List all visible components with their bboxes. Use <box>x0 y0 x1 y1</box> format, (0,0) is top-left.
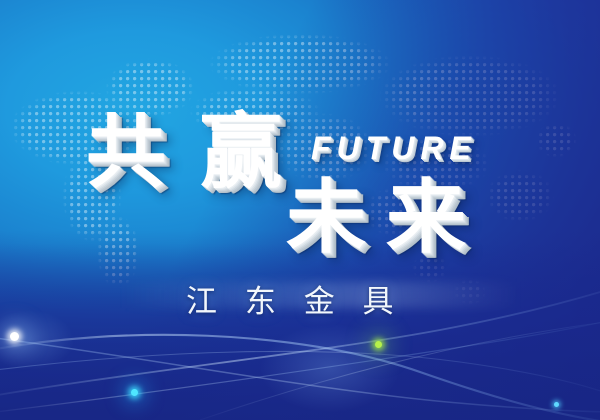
headline-char-ying: 赢 <box>200 112 282 194</box>
headline-char-wei: 未 <box>286 178 366 258</box>
promotional-banner: 共 赢 FUTURE 未 来 江 东 金 具 <box>0 0 600 420</box>
english-headline-future: FUTURE <box>311 130 477 167</box>
company-name-subtitle: 江 东 金 具 <box>186 276 403 321</box>
headline-char-lai: 来 <box>386 178 466 258</box>
text-layer: 共 赢 FUTURE 未 来 江 东 金 具 <box>0 0 600 420</box>
headline-char-gong: 共 <box>86 113 166 193</box>
